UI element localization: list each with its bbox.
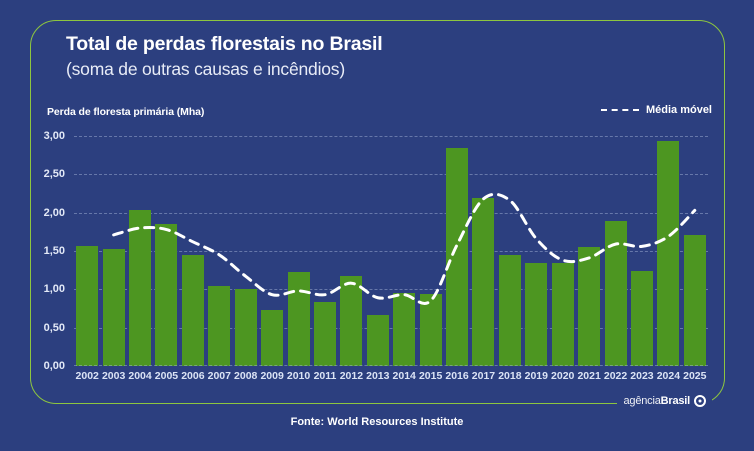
x-axis-tick-label: 2015 xyxy=(419,370,442,382)
legend: Média móvel xyxy=(601,104,712,116)
x-axis-tick-label: 2004 xyxy=(128,370,151,382)
page-subtitle: (soma de outras causas e incêndios) xyxy=(66,59,666,81)
x-axis-tick-label: 2019 xyxy=(525,370,548,382)
x-axis-tick-label: 2012 xyxy=(340,370,363,382)
axis-baseline xyxy=(74,365,708,366)
x-axis-tick-label: 2010 xyxy=(287,370,310,382)
y-axis-tick-label: 2,00 xyxy=(44,207,65,219)
chart-canvas: Total de perdas florestais no Brasil (so… xyxy=(0,0,754,451)
y-axis-tick-label: 2,50 xyxy=(44,168,65,180)
x-axis-tick-label: 2009 xyxy=(260,370,283,382)
y-axis-tick-label: 0,50 xyxy=(44,322,65,334)
x-axis-tick-label: 2007 xyxy=(208,370,231,382)
y-axis-label: Perda de floresta primária (Mha) xyxy=(47,106,204,118)
x-axis-tick-label: 2003 xyxy=(102,370,125,382)
page-title: Total de perdas florestais no Brasil xyxy=(66,33,666,56)
x-axis-tick-label: 2020 xyxy=(551,370,574,382)
brand-prefix: agência xyxy=(623,395,660,407)
x-axis-tick-label: 2023 xyxy=(630,370,653,382)
x-axis-tick-label: 2008 xyxy=(234,370,257,382)
x-axis-tick-label: 2005 xyxy=(155,370,178,382)
brand-logo: agênciaBrasil xyxy=(617,395,712,407)
y-axis-tick-label: 3,00 xyxy=(44,130,65,142)
title-block: Total de perdas florestais no Brasil (so… xyxy=(66,33,666,81)
x-axis-tick-label: 2014 xyxy=(393,370,416,382)
x-axis-tick-label: 2002 xyxy=(76,370,99,382)
x-axis-tick-label: 2013 xyxy=(366,370,389,382)
plot-area: 0,000,501,001,502,002,503,00 20022003200… xyxy=(74,136,708,366)
x-axis-tick-label: 2006 xyxy=(181,370,204,382)
brand-text: agênciaBrasil xyxy=(623,395,690,407)
x-axis-tick-label: 2022 xyxy=(604,370,627,382)
y-axis-tick-label: 1,00 xyxy=(44,283,65,295)
x-axis-tick-label: 2025 xyxy=(683,370,706,382)
moving-average-path xyxy=(114,194,695,303)
moving-average-line xyxy=(74,136,708,366)
x-axis-tick-label: 2011 xyxy=(314,370,337,382)
dashed-line-icon xyxy=(601,109,639,111)
y-axis-tick-label: 0,00 xyxy=(44,360,65,372)
y-axis-tick-label: 1,50 xyxy=(44,245,65,257)
circle-dot-icon xyxy=(694,395,706,407)
x-axis-tick-label: 2021 xyxy=(577,370,600,382)
legend-item-label: Média móvel xyxy=(646,104,712,116)
x-axis-tick-label: 2016 xyxy=(445,370,468,382)
source-note: Fonte: World Resources Institute xyxy=(0,416,754,428)
x-axis-tick-label: 2024 xyxy=(657,370,680,382)
x-axis-tick-label: 2017 xyxy=(472,370,495,382)
brand-suffix: Brasil xyxy=(661,395,690,407)
x-axis-tick-label: 2018 xyxy=(498,370,521,382)
